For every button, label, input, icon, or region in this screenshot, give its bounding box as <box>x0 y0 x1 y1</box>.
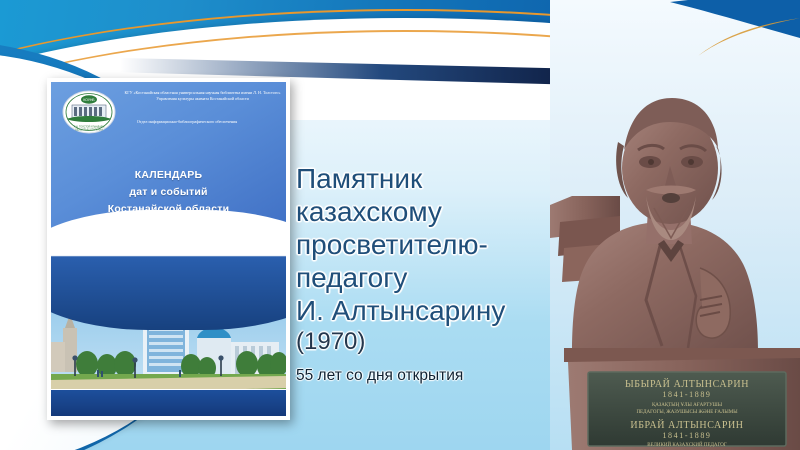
cover-inner: КОУНБ Л.Н. ТОЛСТОЙ АТЫНДАҒЫ ОБЛЫСТЫҚ КІТ… <box>51 82 286 416</box>
altynsarin-monument-photo: ЫБЫРАЙ АЛТЫНСАРИН 1841-1889 ҚАЗАҚТЫҢ ҰЛЫ… <box>550 0 800 450</box>
svg-text:ҚАЗАҚТЫҢ ҰЛЫ АҒАРТУШЫ: ҚАЗАҚТЫҢ ҰЛЫ АҒАРТУШЫ <box>652 403 723 408</box>
cover-title-line-2: дат и событий <box>51 184 286 201</box>
anniversary-subtitle: 55 лет со дня открытия <box>296 366 558 385</box>
library-emblem-logo-icon: КОУНБ Л.Н. ТОЛСТОЙ АТЫНДАҒЫ ОБЛЫСТЫҚ КІТ… <box>61 89 117 135</box>
heading-line-5: И. Алтынсарину <box>296 295 558 328</box>
heading-line-1: Памятник <box>296 163 558 196</box>
heading-line-3: просветителю- <box>296 229 558 262</box>
cover-department-text: Отдел информационно-библиографического о… <box>87 119 286 125</box>
svg-text:ПЕДАГОГЫ, ЖАЗУШЫСЫ ЖӘНЕ ҒАЛЫМЫ: ПЕДАГОГЫ, ЖАЗУШЫСЫ ЖӘНЕ ҒАЛЫМЫ <box>636 410 738 415</box>
calendar-book-cover: КОУНБ Л.Н. ТОЛСТОЙ АТЫНДАҒЫ ОБЛЫСТЫҚ КІТ… <box>47 78 290 420</box>
svg-text:1841-1889: 1841-1889 <box>662 431 711 440</box>
svg-text:ВЕЛИКИЙ КАЗАХСКИЙ ПЕДАГОГ: ВЕЛИКИЙ КАЗАХСКИЙ ПЕДАГОГ <box>647 442 727 448</box>
monument-year: (1970) <box>296 328 558 357</box>
cover-title-line-1: КАЛЕНДАРЬ <box>51 167 286 184</box>
svg-text:ИБРАЙ АЛТЫНСАРИН: ИБРАЙ АЛТЫНСАРИН <box>630 419 743 431</box>
cover-organization-text: КГУ «Костанайская областная универсальна… <box>121 90 284 103</box>
svg-text:КОУНБ: КОУНБ <box>83 98 95 102</box>
svg-text:ОБЛЫСТЫҚ КІТАПХАНА: ОБЛЫСТЫҚ КІТАПХАНА <box>75 129 103 132</box>
main-text-block: Памятник казахскому просветителю- педаго… <box>296 163 558 386</box>
svg-text:1841-1889: 1841-1889 <box>662 390 711 399</box>
cover-bottom-bar <box>51 389 286 416</box>
heading-line-4: педагогу <box>296 262 558 295</box>
svg-text:ЫБЫРАЙ АЛТЫНСАРИН: ЫБЫРАЙ АЛТЫНСАРИН <box>625 378 749 390</box>
slide-canvas: ЫБЫРАЙ АЛТЫНСАРИН 1841-1889 ҚАЗАҚТЫҢ ҰЛЫ… <box>0 0 800 450</box>
cover-blue-curve <box>51 210 286 330</box>
heading-line-2: казахскому <box>296 196 558 229</box>
